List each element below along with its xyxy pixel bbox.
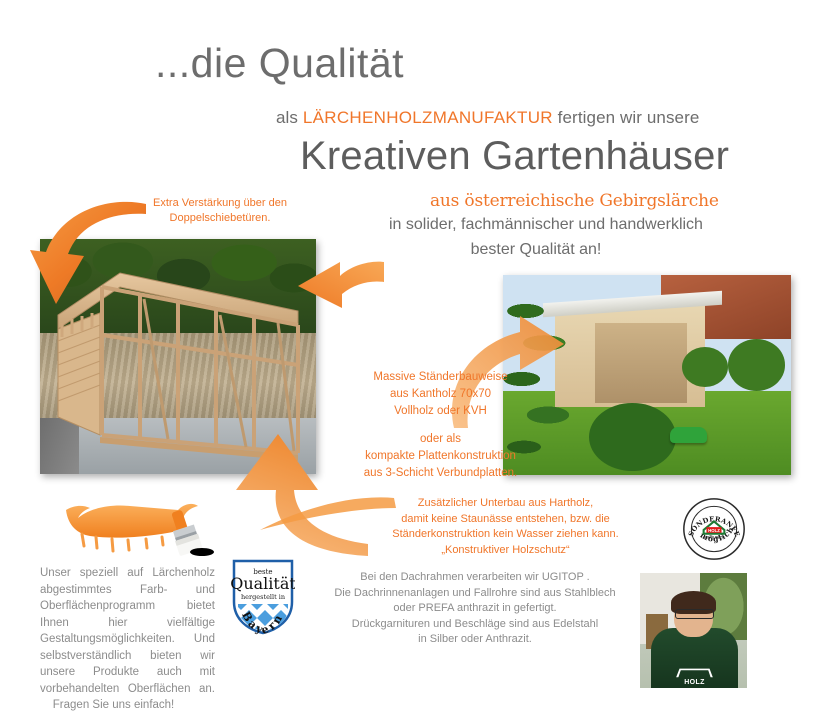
subtitle-prefix: als [276,108,303,127]
sonderanfertigung-stamp: SONDERANFERTIGUNG möglich HOLZ SCHOLBECK [675,496,753,562]
quality-badge-main: Qualität [231,574,295,593]
hoodie-roof-icon [676,668,713,677]
quality-statement-line2: bester Qualität an! [471,241,602,258]
portrait-glasses [675,609,713,619]
photo-bush-a [682,347,728,387]
subtitle-line: als LÄRCHENHOLZMANUFAKTUR fertigen wir u… [276,108,699,128]
hoodie-logo-main: HOLZ [684,679,705,686]
callout-unterbau-line1: Zusätzlicher Unterbau aus Hartholz, [418,497,593,509]
poster-canvas: ...die Qualität als LÄRCHENHOLZMANUFAKTU… [0,0,826,715]
callout-massive-line3: Vollholz oder KVH [394,405,487,417]
subtitle-suffix: fertigen wir unsere [553,108,700,127]
text-roof-specs: Bei den Dachrahmen verarbeiten wir UGITO… [330,570,620,648]
photo-bush-b [728,339,786,391]
callout-unterbau: Zusätzlicher Unterbau aus Hartholz, dami… [378,496,633,558]
photo-employee-portrait: HOLZ SCHOLBECK [640,573,747,688]
callout-massive-line4: oder als [420,433,461,445]
subtitle-accent: LÄRCHENHOLZMANUFAKTUR [303,108,553,127]
page-title: ...die Qualität [155,40,404,87]
headline-secondary: Kreativen Gartenhäuser [300,134,729,179]
callout-unterbau-line3: Ständerkonstruktion kein Wasser ziehen k… [392,528,618,540]
quality-statement-line1: in solider, fachmännischer und handwerkl… [389,216,703,233]
garden-house-opening [595,323,687,403]
callout-extra-line1: Extra Verstärkung über den [153,197,287,209]
quality-badge-bayern: beste Qualität hergestellt in Bayern [231,558,295,636]
svg-text:SCHOLBECK: SCHOLBECK [703,535,725,539]
svg-text:HOLZ: HOLZ [708,528,720,533]
roof-specs-line1: Bei den Dachrahmen verarbeiten wir UGITO… [360,571,589,583]
portrait-hoodie: HOLZ SCHOLBECK [651,628,739,688]
callout-unterbau-line4: „Konstruktiver Holzschutz“ [441,544,569,556]
quality-badge-mid: hergestellt in [241,593,285,601]
callout-massive-line6: aus 3-Schicht Verbundplatten. [364,467,517,479]
arrow-down-left [18,192,158,317]
roof-specs-line5: in Silber oder Anthrazit. [418,633,532,645]
robot-mower [670,427,707,443]
larch-origin-text: aus österreichische Gebirgslärche [430,191,719,211]
roof-specs-line2: Die Dachrinnenanlagen und Fallrohre sind… [334,587,615,599]
callout-unterbau-line2: damit keine Staunässe entstehen, bzw. di… [401,513,610,525]
hoodie-logo: HOLZ SCHOLBECK [673,668,715,681]
colour-program-cta: Fragen Sie uns einfach! [53,699,174,711]
photo-bush-c [589,403,675,471]
roof-specs-line3: oder PREFA anthrazit in gefertigt. [393,602,556,614]
colour-program-paragraph1: Unser speziell auf Lärchenholz abgestimm… [40,567,215,645]
callout-extra-reinforcement: Extra Verstärkung über den Doppelschiebe… [140,196,300,226]
arrow-left-to-construction [296,258,386,328]
callout-massive-spacer [338,420,543,431]
quality-statement: in solider, fachmännischer und handwerkl… [389,212,683,262]
callout-extra-line2: Doppelschiebetüren. [170,212,271,224]
callout-massive-construction: Massive Ständerbauweise aus Kantholz 70x… [338,369,543,482]
paintbrush-icon [60,496,230,558]
arrow-connector-unterbau [258,492,398,536]
callout-massive-line1: Massive Ständerbauweise [373,371,507,383]
text-colour-program: Unser speziell auf Lärchenholz abgestimm… [40,565,215,714]
callout-massive-line2: aus Kantholz 70x70 [390,388,491,400]
callout-massive-line5: kompakte Plattenkonstruktion [365,450,516,462]
roof-specs-line4: Drückgarnituren und Beschläge sind aus E… [352,618,598,630]
